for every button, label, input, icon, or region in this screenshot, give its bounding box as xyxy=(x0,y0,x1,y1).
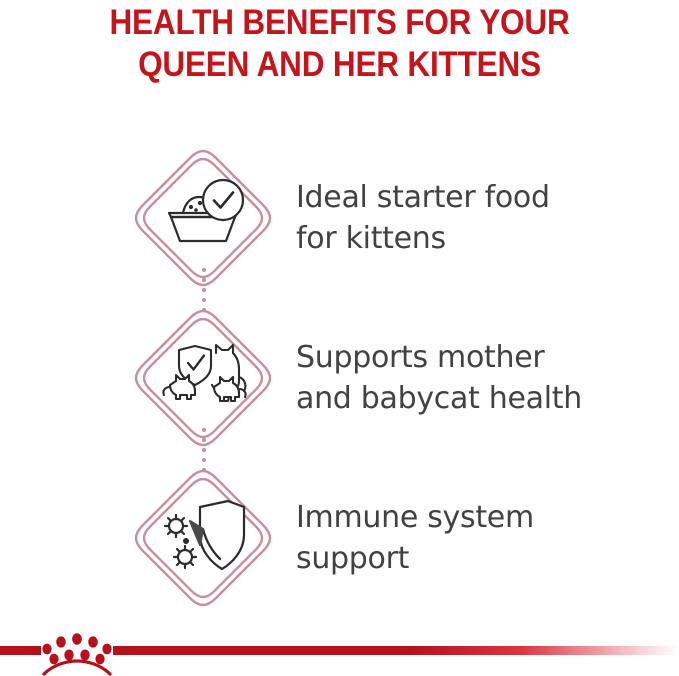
benefit-3-line-2: support xyxy=(296,538,534,579)
benefit-2-line-2: and babycat health xyxy=(296,378,582,419)
connector-dots-1 xyxy=(202,268,206,308)
benefit-2-line-1: Supports mother xyxy=(296,337,582,378)
benefit-item-1: Ideal starter food for kittens xyxy=(0,138,679,298)
headline-line-2: QUEEN AND HER KITTENS xyxy=(34,44,645,86)
footer-rule-right xyxy=(113,646,679,655)
connector-dot xyxy=(202,438,206,442)
benefit-text-1: Ideal starter food for kittens xyxy=(296,177,550,259)
headline-line-1: HEALTH BENEFITS FOR YOUR xyxy=(34,2,645,44)
connector-dots-2 xyxy=(202,428,206,468)
benefit-item-2: Supports mother and babycat health xyxy=(0,298,679,458)
connector-dot xyxy=(202,268,206,272)
connector-dot xyxy=(202,308,206,312)
connector-dot xyxy=(202,468,206,472)
footer-rule-left xyxy=(0,646,41,655)
benefit-3-line-1: Immune system xyxy=(296,497,534,538)
promo-panel: HEALTH BENEFITS FOR YOUR QUEEN AND HER K… xyxy=(0,0,679,676)
royal-canin-crown-icon xyxy=(38,630,116,676)
connector-dot xyxy=(202,288,206,292)
benefit-item-3: Immune system support xyxy=(0,458,679,618)
benefit-text-3: Immune system support xyxy=(296,497,534,579)
connector-dot xyxy=(202,278,206,282)
benefit-1-line-1: Ideal starter food xyxy=(296,177,550,218)
benefit-text-2: Supports mother and babycat health xyxy=(296,337,582,419)
benefit-1-line-2: for kittens xyxy=(296,218,550,259)
connector-dot xyxy=(202,428,206,432)
page-title: HEALTH BENEFITS FOR YOUR QUEEN AND HER K… xyxy=(34,2,645,86)
benefits-list: Ideal starter food for kittens xyxy=(0,138,679,618)
connector-dot xyxy=(202,298,206,302)
connector-dot xyxy=(202,458,206,462)
connector-dot xyxy=(202,448,206,452)
shield-germ-defense-icon xyxy=(128,463,278,613)
footer xyxy=(0,630,679,676)
